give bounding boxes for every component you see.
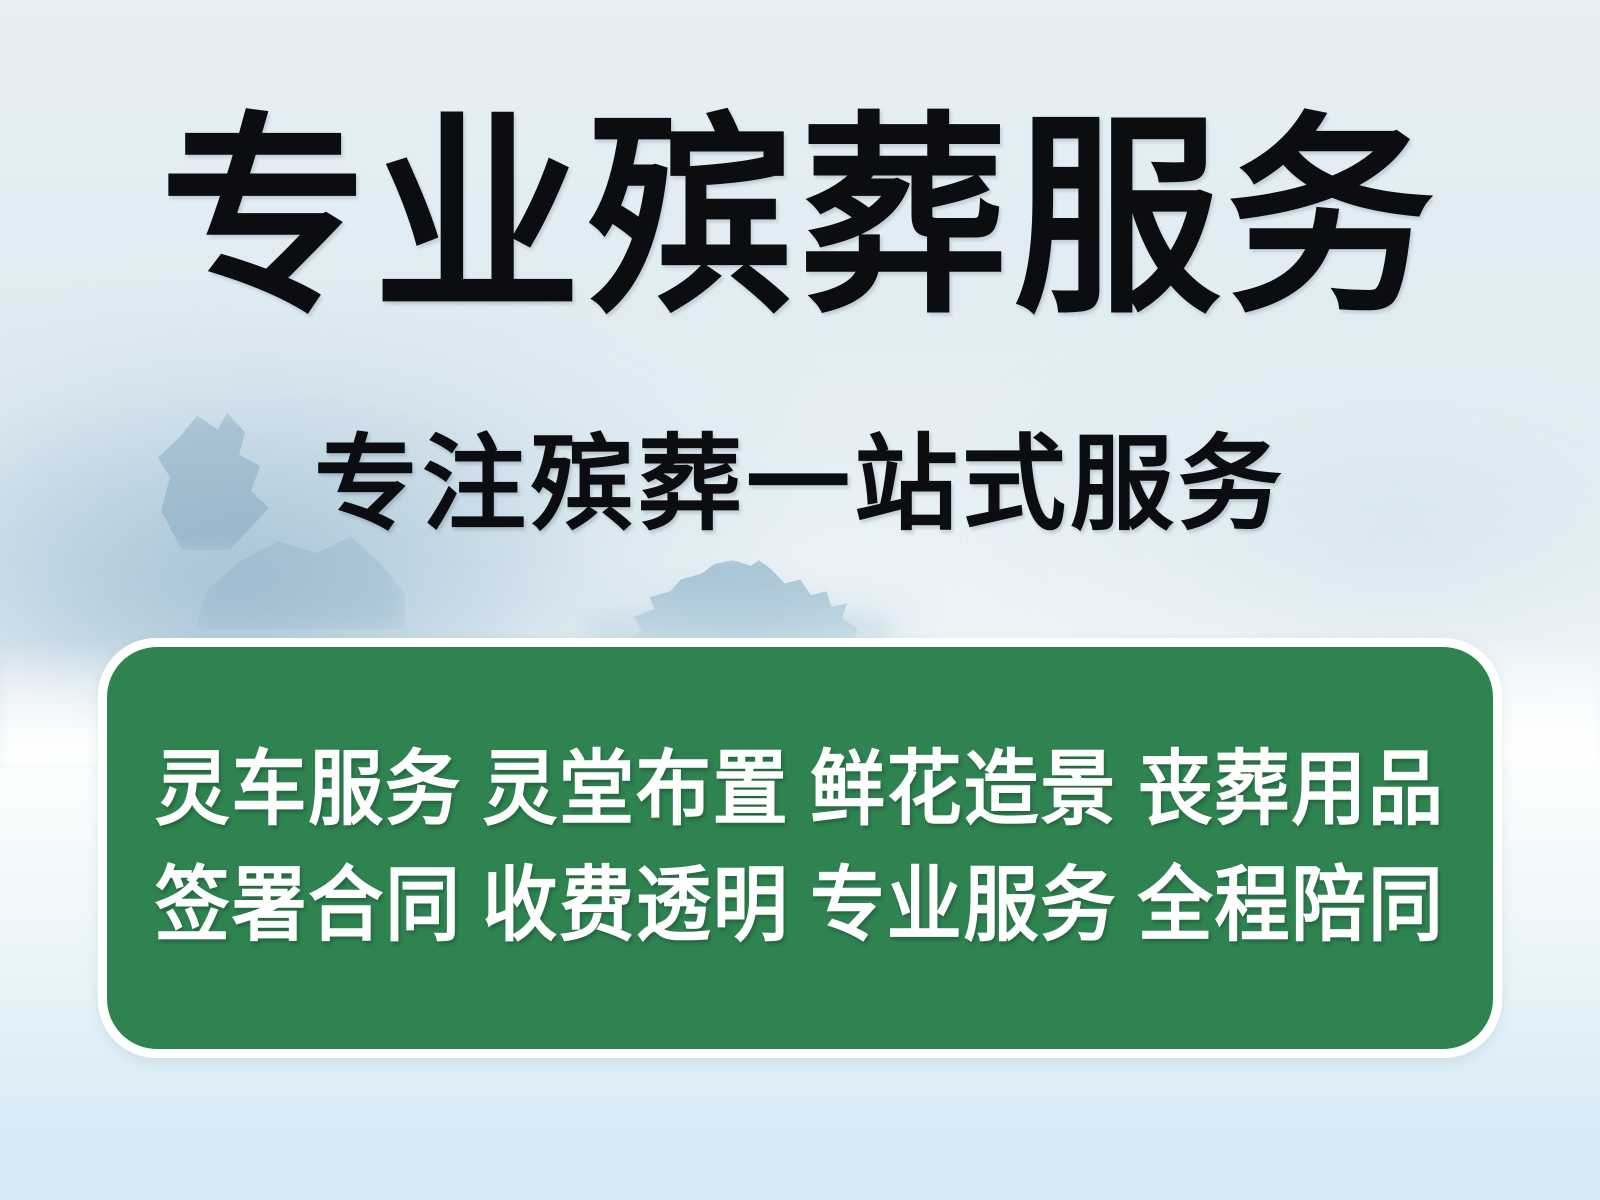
page-title: 专业殡葬服务 — [24, 112, 1576, 330]
services-panel-body: 灵车服务 灵堂布置 鲜花造景 丧葬用品 签署合同 收费透明 专业服务 全程陪同 — [107, 647, 1493, 1049]
page-subtitle: 专注殡葬一站式服务 — [0, 430, 1600, 542]
services-row-2: 签署合同 收费透明 专业服务 全程陪同 — [107, 865, 1493, 947]
poster-canvas: 专业殡葬服务 专注殡葬一站式服务 灵车服务 灵堂布置 鲜花造景 丧葬用品 签署合… — [0, 0, 1600, 1200]
services-row-1: 灵车服务 灵堂布置 鲜花造景 丧葬用品 — [107, 749, 1493, 831]
services-panel: 灵车服务 灵堂布置 鲜花造景 丧葬用品 签署合同 收费透明 专业服务 全程陪同 — [98, 638, 1502, 1058]
